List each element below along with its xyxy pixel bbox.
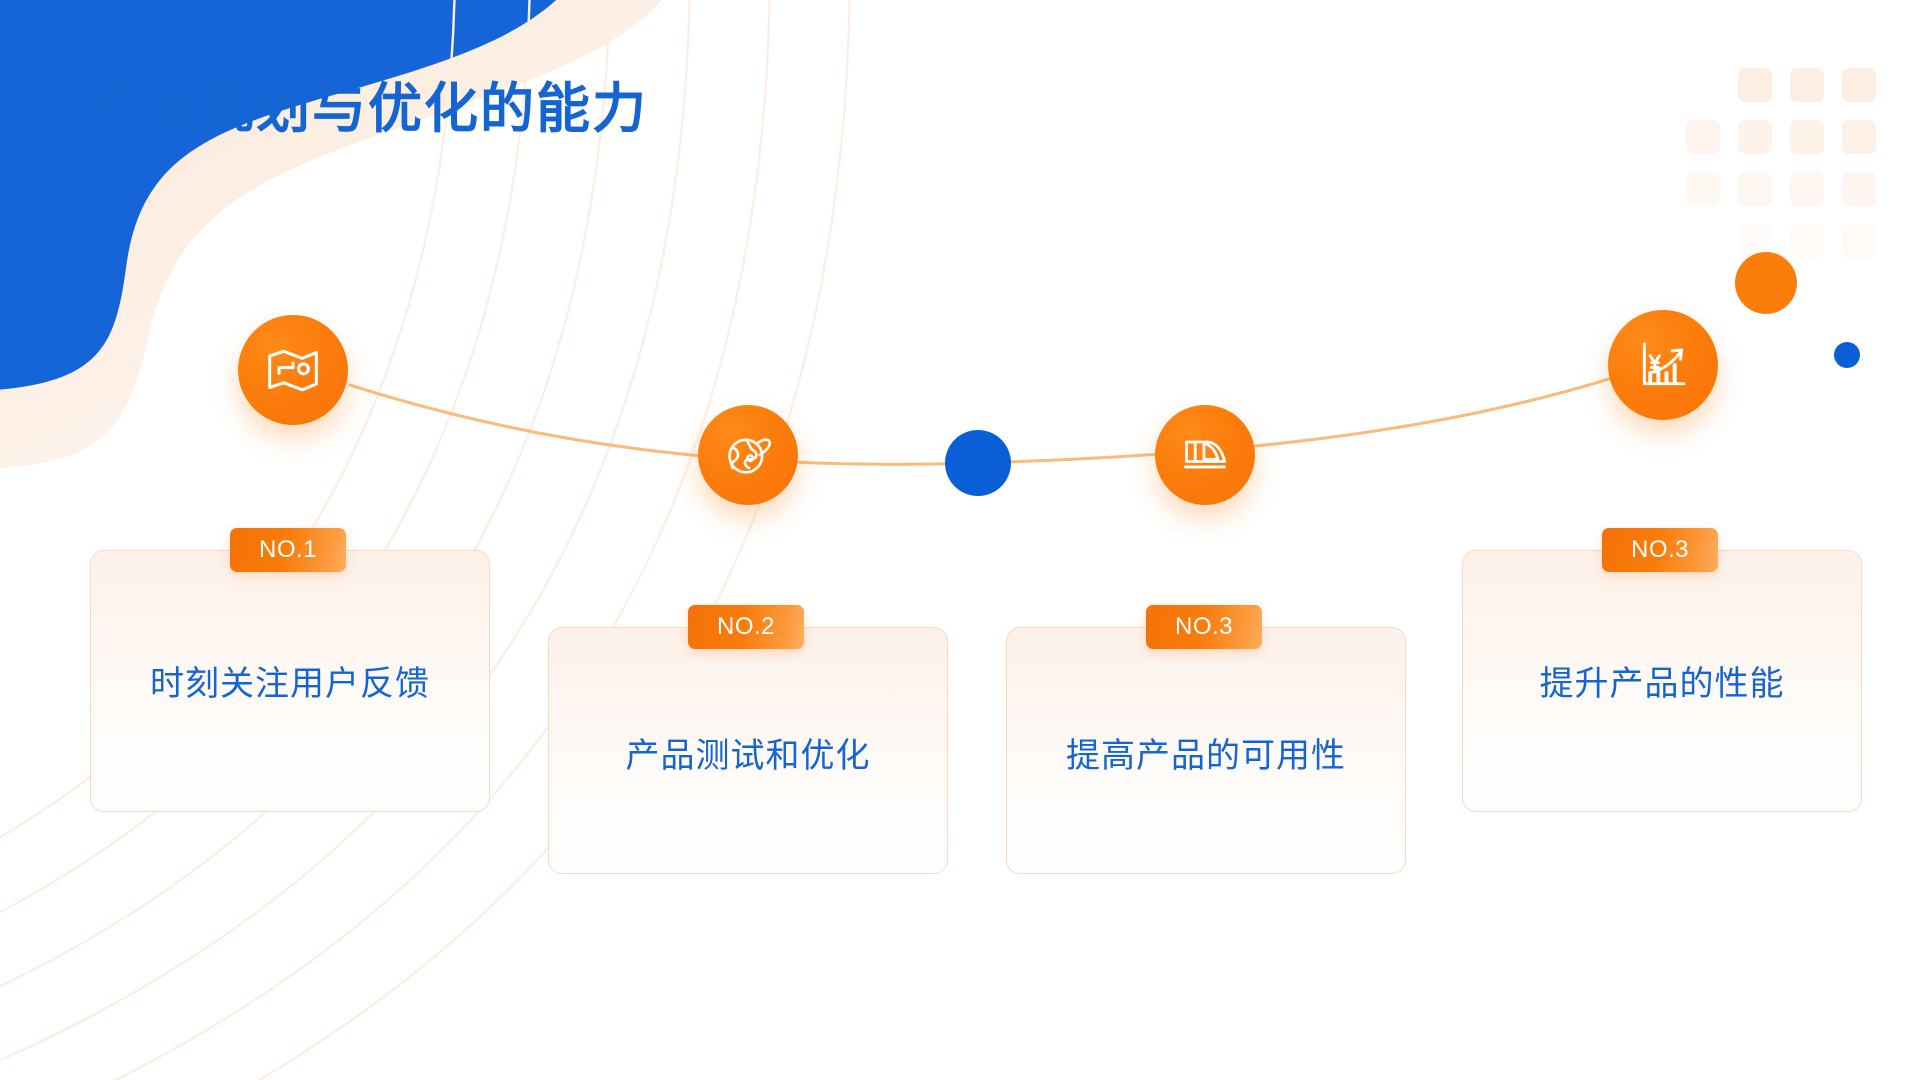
concentric-arc-lines [0, 0, 850, 1080]
card-badge-label: NO.3 [1631, 536, 1689, 564]
info-card[interactable]: 产品测试和优化 [548, 627, 948, 874]
card-badge: NO.1 [230, 528, 346, 572]
node-globe-orbit[interactable] [698, 405, 798, 505]
card-badge: NO.3 [1602, 528, 1718, 572]
info-card[interactable]: 提高产品的可用性 [1006, 627, 1406, 874]
card-badge: NO.3 [1146, 605, 1262, 649]
node-map-route[interactable] [238, 315, 348, 425]
map-route-icon [265, 342, 321, 398]
slide-root: 产品规划与优化的能力 [0, 0, 1920, 1080]
info-card[interactable]: 提升产品的性能 [1462, 550, 1862, 812]
peach-wave-shape [0, 0, 700, 470]
info-card-text: 时刻关注用户反馈 [91, 656, 489, 705]
info-card-text: 提高产品的可用性 [1007, 728, 1405, 777]
node-train[interactable] [1155, 405, 1255, 505]
node-bar-chart-yen[interactable] [1608, 310, 1718, 420]
card-badge-label: NO.3 [1175, 613, 1233, 641]
info-card[interactable]: 时刻关注用户反馈 [90, 550, 490, 812]
dot-blue-center [945, 430, 1011, 496]
train-icon [1179, 429, 1231, 481]
info-card-text: 产品测试和优化 [549, 728, 947, 777]
globe-orbit-icon [722, 429, 774, 481]
card-badge-label: NO.1 [259, 536, 317, 564]
info-card-text: 提升产品的性能 [1463, 656, 1861, 705]
dot-orange-large [1735, 252, 1797, 314]
dot-blue-small [1834, 342, 1860, 368]
dot-grid-pattern [1686, 68, 1876, 258]
page-title: 产品规划与优化的能力 [88, 78, 648, 140]
bar-chart-yen-icon [1635, 337, 1691, 393]
card-badge-label: NO.2 [717, 613, 775, 641]
card-badge: NO.2 [688, 605, 804, 649]
